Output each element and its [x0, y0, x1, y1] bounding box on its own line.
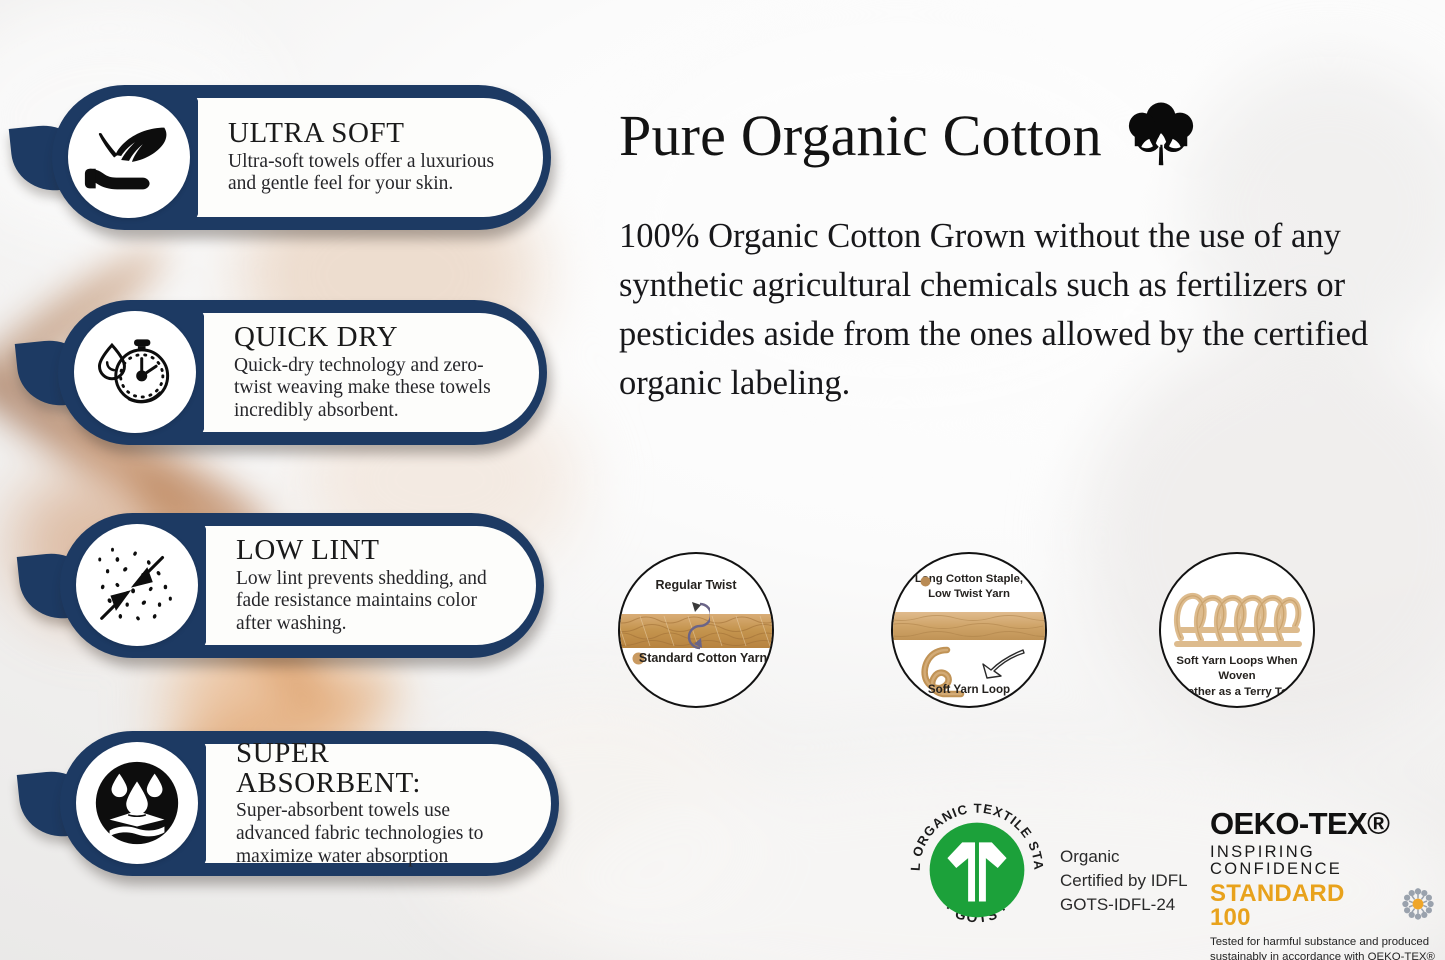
oekotex-disclaimer-line-1: Tested for harmful substance and produce… [1210, 935, 1435, 950]
yarn-bullet-icon [920, 576, 931, 587]
terry-loops-graphic [1169, 582, 1305, 652]
feature-title: ULTRA SOFT [228, 119, 509, 149]
water-droplets-fabric-icon [76, 742, 198, 864]
feature-description: Ultra-soft towels offer a luxurious and … [228, 151, 509, 196]
oekotex-standard-text: STANDARD 100 [1210, 882, 1391, 930]
gots-line-3: GOTS-IDFL-24 [1060, 893, 1188, 917]
oekotex-title: OEKO-TEX® [1210, 808, 1435, 839]
cotton-boll-icon [1124, 101, 1198, 171]
infographic-canvas: ULTRA SOFT Ultra-soft towels offer a lux… [0, 0, 1445, 960]
twist-arrow-icon [682, 598, 710, 654]
yarn-bottom-label: Soft Yarn Loop [893, 683, 1045, 696]
feather-in-hand-icon [68, 96, 190, 218]
feature-card: QUICK DRY Quick-dry technology and zero-… [204, 313, 539, 432]
yarn-top-label: Regular Twist [620, 578, 772, 592]
feature-card: SUPER ABSORBENT: Super-absorbent towels … [206, 744, 551, 863]
yarn-strand-graphic [891, 610, 1047, 644]
feature-description: Super-absorbent towels use advanced fabr… [236, 800, 517, 868]
gots-certification-text: Organic Certified by IDFL GOTS-IDFL-24 [1060, 845, 1188, 917]
lint-particles-icon [76, 524, 198, 646]
yarn-bottom-label: Soft Yarn Loops When Woven Together as a… [1161, 654, 1313, 700]
feature-title: QUICK DRY [234, 323, 505, 353]
loop-pointer-arrow-icon [979, 646, 1029, 680]
yarn-diagram-regular-twist: Regular Twist [618, 552, 774, 708]
feature-title: SUPER ABSORBENT: [236, 739, 517, 799]
gots-certification-logo: GLOBAL ORGANIC TEXTILE STANDARD · GOTS · [903, 792, 1051, 944]
feature-card: ULTRA SOFT Ultra-soft towels offer a lux… [198, 98, 543, 217]
feature-badge-low-lint[interactable]: LOW LINT Low lint prevents shedding, and… [14, 513, 544, 658]
feature-title: LOW LINT [236, 536, 502, 566]
page-title: Pure Organic Cotton [619, 101, 1198, 171]
yarn-bottom-label: Standard Cotton Yarn [620, 651, 772, 665]
oekotex-certification-logo: OEKO-TEX® INSPIRING CONFIDENCE STANDARD … [1210, 808, 1435, 960]
yarn-top-label: Long Cotton Staple, Low Twist Yarn [893, 572, 1045, 602]
yarn-diagram-terry-loops: Soft Yarn Loops When Woven Together as a… [1159, 552, 1315, 708]
oekotex-disclaimer: Tested for harmful substance and produce… [1210, 935, 1435, 960]
feature-description: Quick-dry technology and zero-twist weav… [234, 355, 505, 423]
page-title-text: Pure Organic Cotton [619, 107, 1102, 165]
oekotex-standard: STANDARD 100 [1210, 882, 1435, 930]
oekotex-flower-icon [1401, 887, 1435, 926]
feature-description: Low lint prevents shedding, and fade res… [236, 568, 502, 636]
yarn-diagram-low-twist: Long Cotton Staple, Low Twist Yarn [891, 552, 1047, 708]
stopwatch-droplet-icon [74, 311, 196, 433]
feature-card: LOW LINT Low lint prevents shedding, and… [206, 526, 536, 645]
feature-badge-ultra-soft[interactable]: ULTRA SOFT Ultra-soft towels offer a lux… [6, 85, 551, 230]
gots-line-1: Organic [1060, 845, 1188, 869]
feature-badge-super-absorbent[interactable]: SUPER ABSORBENT: Super-absorbent towels … [14, 731, 559, 876]
oekotex-disclaimer-line-2: sustainably in accordance with OEKO-TEX® [1210, 950, 1435, 960]
oekotex-tagline: INSPIRING CONFIDENCE [1210, 844, 1435, 877]
feature-badge-quick-dry[interactable]: QUICK DRY Quick-dry technology and zero-… [12, 300, 547, 445]
gots-line-2: Certified by IDFL [1060, 869, 1188, 893]
body-paragraph: 100% Organic Cotton Grown without the us… [619, 212, 1419, 408]
